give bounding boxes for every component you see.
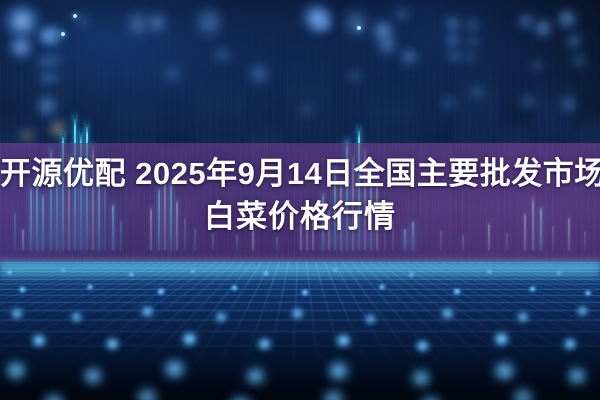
floor-bokeh-dots — [0, 262, 600, 400]
banner-title: 开源优配 2025年9月14日全国主要批发市场大 白菜价格行情 — [0, 152, 600, 238]
banner-title-line-1: 开源优配 2025年9月14日全国主要批发市场大 — [0, 152, 600, 195]
banner-image: 开源优配 2025年9月14日全国主要批发市场大 白菜价格行情 — [0, 0, 600, 400]
banner-title-line-2: 白菜价格行情 — [0, 195, 600, 238]
